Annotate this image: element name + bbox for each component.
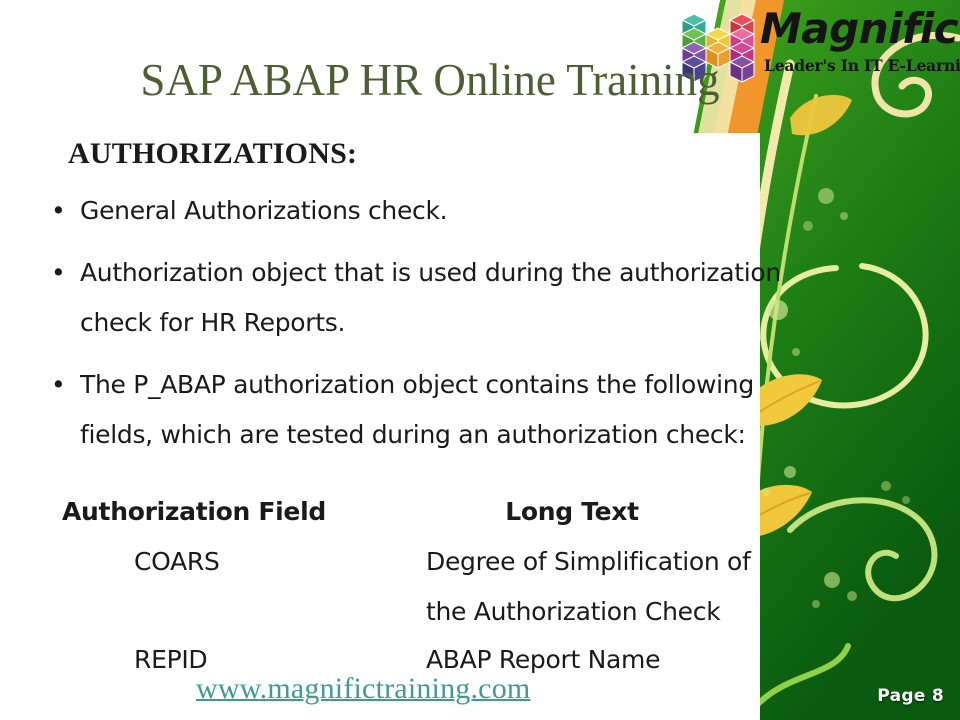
bullet-list: • General Authorizations check. • Author… (42, 186, 802, 472)
slide-content: AUTHORIZATIONS: • General Authorizations… (0, 0, 900, 720)
column-header-authorization-field: Authorization Field (62, 488, 402, 536)
list-item: • Authorization object that is used duri… (42, 248, 802, 348)
cell-long-text-continued: the Authorization Check (422, 588, 856, 636)
list-item: • General Authorizations check. (42, 186, 802, 236)
list-item-text: General Authorizations check. (80, 196, 447, 225)
authorization-field-table: Authorization Field Long Text COARS Degr… (62, 488, 862, 686)
cell-field: COARS (62, 538, 474, 586)
website-url-link[interactable]: www.magnifictraining.com (196, 672, 530, 706)
page-number-badge: Page 8 (877, 686, 944, 706)
table-row: COARS Degree of Simplification of (62, 538, 862, 588)
bullet-dot-icon: • (51, 248, 65, 298)
bullet-dot-icon: • (51, 186, 65, 236)
table-header-row: Authorization Field Long Text (62, 488, 862, 538)
table-row-continuation: the Authorization Check (62, 588, 862, 636)
list-item-text: The P_ABAP authorization object contains… (80, 370, 754, 449)
list-item: • The P_ABAP authorization object contai… (42, 360, 802, 460)
list-item-text: Authorization object that is used during… (80, 258, 781, 337)
cell-long-text: Degree of Simplification of (422, 538, 856, 586)
section-heading: AUTHORIZATIONS: (68, 137, 357, 171)
column-header-long-text: Long Text (422, 488, 722, 536)
slide-canvas: SAP ABAP HR Online Training AUTHORIZATIO… (0, 0, 960, 720)
bullet-dot-icon: • (51, 360, 65, 410)
